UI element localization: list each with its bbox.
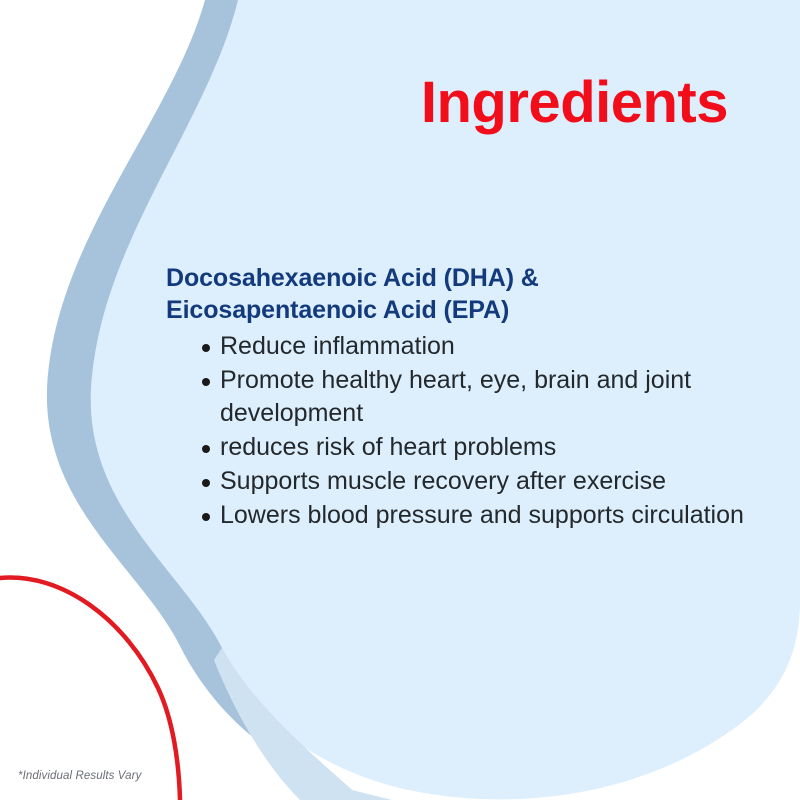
bullet-dot-icon bbox=[202, 445, 210, 453]
page-title: Ingredients bbox=[0, 74, 728, 132]
list-item-label: Lowers blood pressure and supports circu… bbox=[220, 501, 744, 529]
list-item-label: reduces risk of heart problems bbox=[220, 433, 556, 461]
ingredient-heading: Docosahexaenoic Acid (DHA) & Eicosapenta… bbox=[166, 262, 686, 326]
slide-canvas: Ingredients Docosahexaenoic Acid (DHA) &… bbox=[0, 0, 800, 800]
content-block: Docosahexaenoic Acid (DHA) & Eicosapenta… bbox=[166, 262, 746, 533]
disclaimer-note: *Individual Results Vary bbox=[18, 770, 141, 782]
red-arc-stroke bbox=[0, 577, 180, 800]
bullet-dot-icon bbox=[202, 479, 210, 487]
list-item: Lowers blood pressure and supports circu… bbox=[166, 499, 746, 532]
list-item: reduces risk of heart problems bbox=[166, 431, 746, 464]
list-item: Supports muscle recovery after exercise bbox=[166, 465, 746, 498]
bullet-dot-icon bbox=[202, 378, 210, 386]
bullet-dot-icon bbox=[202, 513, 210, 521]
list-item-label: Reduce inflammation bbox=[220, 332, 455, 360]
list-item-label: Supports muscle recovery after exercise bbox=[220, 467, 666, 495]
list-item: Reduce inflammation bbox=[166, 330, 746, 363]
list-item-label: Promote healthy heart, eye, brain and jo… bbox=[220, 366, 691, 427]
benefit-list: Reduce inflammation Promote healthy hear… bbox=[166, 330, 746, 532]
list-item: Promote healthy heart, eye, brain and jo… bbox=[166, 364, 746, 430]
bullet-dot-icon bbox=[202, 344, 210, 352]
